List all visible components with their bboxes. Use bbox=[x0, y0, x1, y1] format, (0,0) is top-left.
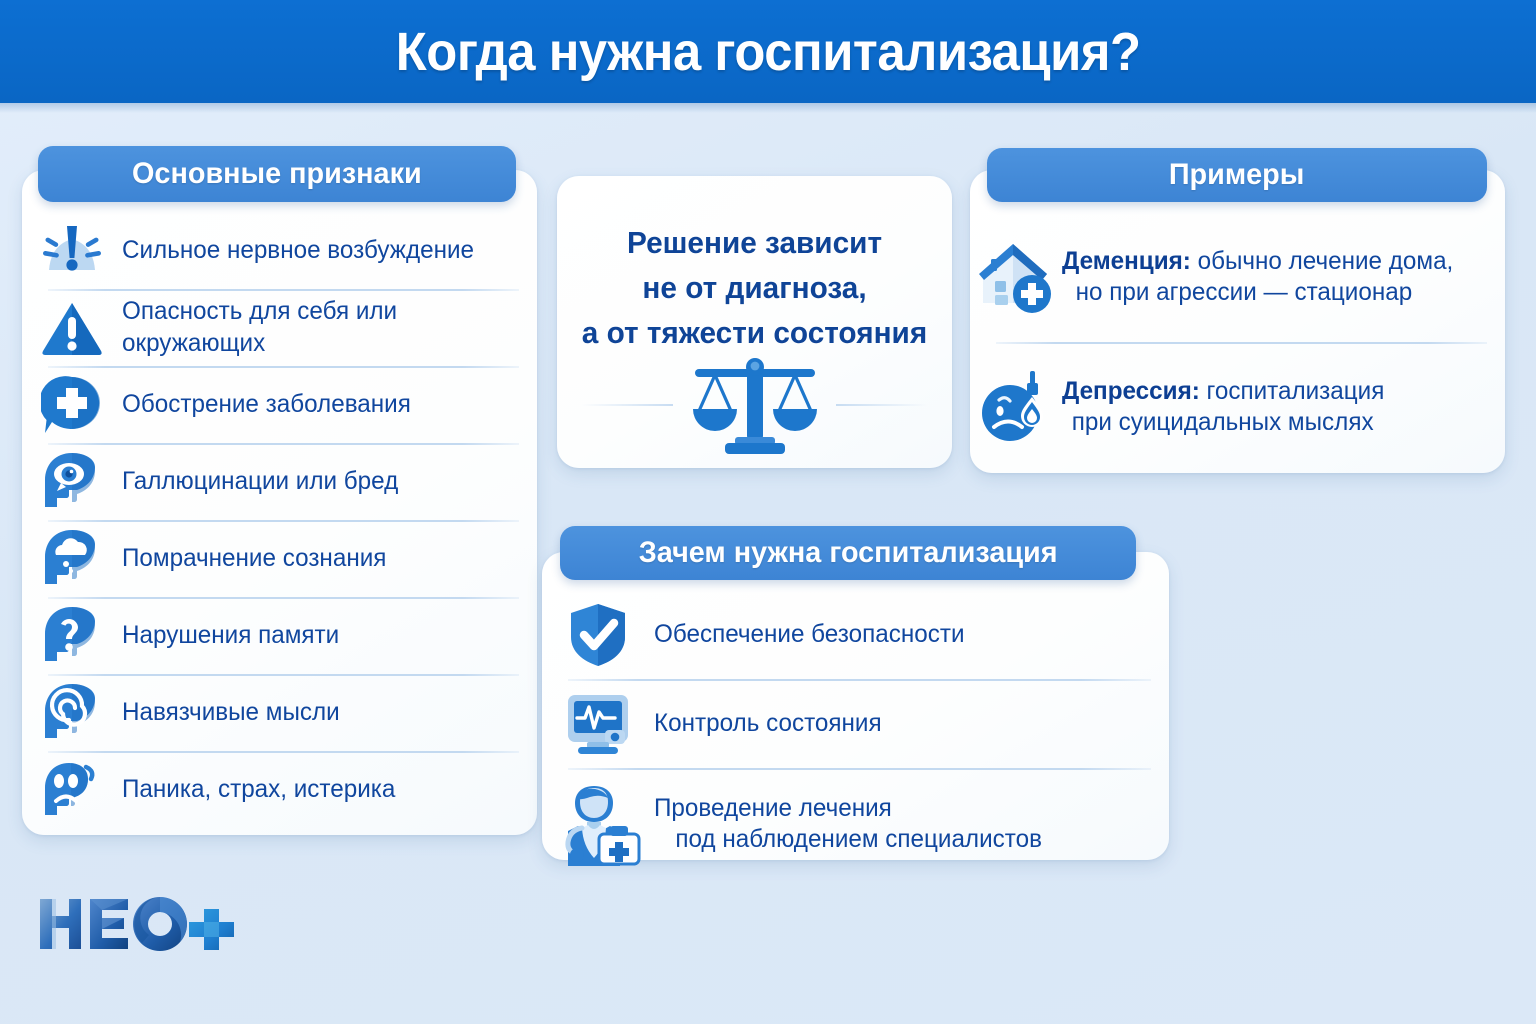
list-item-label: Галлюцинации или бред bbox=[122, 466, 398, 498]
examples-list: Деменция: обычно лечение дома, но при аг… bbox=[970, 212, 1505, 472]
list-item[interactable]: Обострение заболевания bbox=[22, 366, 537, 443]
list-item-label: Проведение лечения под наблюдением специ… bbox=[654, 793, 1042, 856]
examples-panel-header-label: Примеры bbox=[1169, 158, 1305, 192]
head-spiral-icon bbox=[22, 680, 122, 746]
list-item-label: Депрессия: госпитализация при суицидальн… bbox=[1062, 376, 1394, 439]
list-item-label: Деменция: обычно лечение дома, но при аг… bbox=[1062, 246, 1463, 309]
list-item[interactable]: Нарушения памяти bbox=[22, 597, 537, 674]
list-item-label: Обеспечение безопасности bbox=[654, 619, 964, 651]
example-lead: Деменция: bbox=[1062, 247, 1191, 275]
list-item-label: Паника, страх, истерика bbox=[122, 774, 395, 806]
head-cloud-icon bbox=[22, 526, 122, 592]
list-item-label: Контроль состояния bbox=[654, 708, 882, 740]
scale-rule-right bbox=[836, 404, 928, 406]
example-rest: обычно лечение дома, bbox=[1191, 247, 1453, 275]
banner-shadow bbox=[0, 103, 1536, 113]
purpose-panel-header-label: Зачем нужна госпитализация bbox=[639, 536, 1058, 570]
purpose-list: Обеспечение безопасности Контроль состоя… bbox=[542, 590, 1169, 880]
warning-triangle-icon bbox=[22, 299, 122, 357]
example-line2: при суицидальных мыслях bbox=[1062, 407, 1384, 439]
statement-text: Решение зависит не от диагноза, а от тяж… bbox=[565, 221, 944, 356]
brand-logo[interactable]: НЕО + bbox=[38, 893, 238, 955]
list-item[interactable]: Контроль состояния bbox=[542, 679, 1169, 768]
signs-list: Сильное нервное возбуждение Опасность дл… bbox=[22, 212, 537, 828]
balance-scales-wrap bbox=[557, 354, 952, 454]
balance-scales-icon bbox=[675, 353, 835, 455]
list-item-label: Обострение заболевания bbox=[122, 389, 411, 421]
statement-line-1: Решение зависит bbox=[565, 221, 944, 266]
purpose-line2: под наблюдением специалистов bbox=[654, 824, 1042, 856]
list-item-label: Помрачнение сознания bbox=[122, 543, 386, 575]
list-item[interactable]: Опасность для себя или окружающих bbox=[22, 289, 537, 366]
purpose-line1: Проведение лечения bbox=[654, 793, 1042, 825]
scale-rule-left bbox=[581, 404, 673, 406]
list-item-label: Опасность для себя или окружающих bbox=[122, 296, 525, 359]
list-item[interactable]: Помрачнение сознания bbox=[22, 520, 537, 597]
list-item[interactable]: Депрессия: госпитализация при суицидальн… bbox=[970, 342, 1505, 472]
signs-panel-header-label: Основные признаки bbox=[132, 157, 422, 191]
list-item[interactable]: Обеспечение безопасности bbox=[542, 590, 1169, 679]
list-item[interactable]: Навязчивые мысли bbox=[22, 674, 537, 751]
medical-cross-speech-icon bbox=[22, 374, 122, 436]
examples-panel-header: Примеры bbox=[987, 148, 1487, 202]
list-item-label: Нарушения памяти bbox=[122, 620, 339, 652]
example-lead: Депрессия: bbox=[1062, 377, 1200, 405]
list-item[interactable]: Проведение лечения под наблюдением специ… bbox=[542, 768, 1169, 880]
neo-plus-logo-icon bbox=[38, 893, 238, 955]
list-item[interactable]: Деменция: обычно лечение дома, но при аг… bbox=[970, 212, 1505, 342]
doctor-bag-icon bbox=[542, 782, 654, 866]
shield-check-icon bbox=[542, 601, 654, 669]
signs-panel-header: Основные признаки bbox=[38, 146, 516, 202]
head-eye-icon bbox=[22, 449, 122, 515]
purpose-panel-header: Зачем нужна госпитализация bbox=[560, 526, 1136, 580]
statement-line-3: а от тяжести состояния bbox=[565, 311, 944, 356]
page-title: Когда нужна госпитализация? bbox=[396, 21, 1141, 83]
list-item[interactable]: Паника, страх, истерика bbox=[22, 751, 537, 828]
house-medical-icon bbox=[970, 239, 1062, 315]
list-item[interactable]: Галлюцинации или бред bbox=[22, 443, 537, 520]
list-item-label: Навязчивые мысли bbox=[122, 697, 340, 729]
vitals-monitor-icon bbox=[542, 692, 654, 756]
example-rest: госпитализация bbox=[1200, 377, 1385, 405]
example-line2: но при агрессии — стационар bbox=[1062, 277, 1453, 309]
head-fear-icon bbox=[22, 757, 122, 823]
exclamation-burst-icon bbox=[22, 220, 122, 282]
page-header-banner: Когда нужна госпитализация? bbox=[0, 0, 1536, 103]
sad-face-teardrop-icon bbox=[970, 369, 1062, 445]
head-question-icon bbox=[22, 603, 122, 669]
statement-card: Решение зависит не от диагноза, а от тяж… bbox=[557, 176, 952, 468]
statement-line-2: не от диагноза, bbox=[565, 266, 944, 311]
list-item[interactable]: Сильное нервное возбуждение bbox=[22, 212, 537, 289]
list-item-label: Сильное нервное возбуждение bbox=[122, 235, 474, 267]
